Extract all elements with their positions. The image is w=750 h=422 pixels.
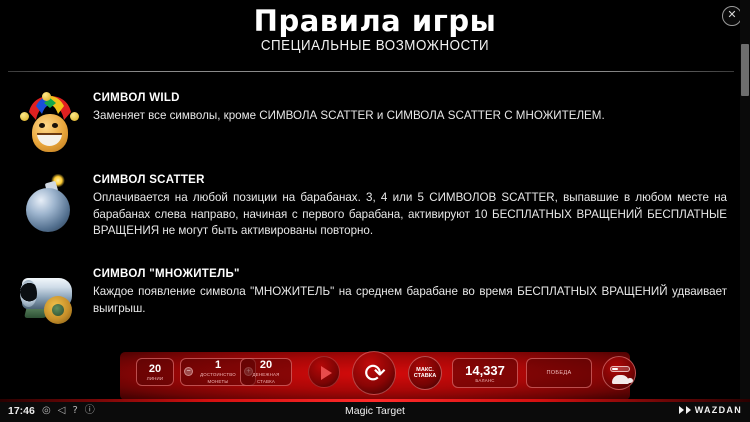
- balance-label: БАЛАНС: [475, 378, 494, 383]
- rules-list: СИМВОЛ WILD Заменяет все символы, кроме …: [0, 86, 750, 344]
- page-subtitle: СПЕЦИАЛЬНЫЕ ВОЗМОЖНОСТИ: [30, 38, 720, 54]
- turtle-head-icon: [627, 378, 633, 383]
- speed-slider-icon: [610, 366, 630, 372]
- brand-logo: WAZDAN: [679, 405, 742, 415]
- game-title: Magic Target: [0, 405, 750, 417]
- coin-label-line1: ДОСТОИНСТВО: [200, 372, 236, 377]
- header: Правила игры СПЕЦИАЛЬНЫЕ ВОЗМОЖНОСТИ ✕: [0, 0, 750, 74]
- play-button[interactable]: [308, 356, 340, 388]
- lines-value: 20: [149, 364, 161, 375]
- joker-jester-wild-icon: [18, 92, 86, 156]
- jester-eye-left: [39, 123, 45, 128]
- spin-refresh-icon: ⟳: [353, 352, 397, 396]
- balance-display: 14,337 БАЛАНС: [452, 358, 518, 388]
- bomb-body-shape: [26, 188, 70, 232]
- jester-bell-right: [70, 112, 79, 121]
- scrollbar-track[interactable]: [740, 0, 750, 400]
- rule-text-multiplier: СИМВОЛ "МНОЖИТЕЛЬ" Каждое появление симв…: [93, 268, 727, 317]
- rule-title: СИМВОЛ WILD: [93, 92, 727, 104]
- scrollbar-thumb[interactable]: [741, 44, 749, 96]
- rule-title: СИМВОЛ "МНОЖИТЕЛЬ": [93, 268, 727, 280]
- spin-button[interactable]: ⟳: [352, 351, 396, 395]
- game-rules-screen: Правила игры СПЕЦИАЛЬНЫЕ ВОЗМОЖНОСТИ ✕: [0, 0, 750, 422]
- max-bet-label-line2: СТАВКА: [414, 373, 437, 379]
- max-bet-button[interactable]: МАКС. СТАВКА: [408, 356, 442, 390]
- jester-mouth: [37, 133, 62, 146]
- lines-display[interactable]: 20 ЛИНИИ: [136, 358, 174, 386]
- game-control-bar: 20 ЛИНИИ 1 ДОСТОИНСТВО МОНЕТЫ − + 20 ДЕН…: [120, 352, 630, 400]
- balance-value: 14,337: [465, 364, 505, 377]
- header-divider: [8, 71, 734, 72]
- page-title: Правила игры: [0, 4, 750, 38]
- close-icon[interactable]: ✕: [722, 6, 742, 26]
- jester-face-shape: [32, 114, 68, 152]
- coin-label-line2: МОНЕТЫ: [208, 379, 229, 384]
- rule-body: Заменяет все символы, кроме СИМВОЛА SCAT…: [93, 108, 727, 125]
- brand-name: WAZDAN: [695, 405, 742, 415]
- cannon-muzzle: [20, 280, 37, 307]
- rule-body: Каждое появление символа "МНОЖИТЕЛЬ" на …: [93, 284, 727, 317]
- jester-bell-top: [42, 92, 51, 101]
- rule-text-scatter: СИМВОЛ SCATTER Оплачивается на любой поз…: [93, 174, 727, 240]
- money-bet-display[interactable]: 20 ДЕНЕЖНАЯ СТАВКА: [240, 358, 292, 386]
- jester-bell-left: [20, 112, 29, 121]
- win-label: ПОБЕДА: [546, 370, 571, 376]
- rule-body: Оплачивается на любой позиции на барабан…: [93, 190, 727, 240]
- cannon-multiplier-icon: [18, 268, 86, 332]
- coin-value: 1: [215, 360, 221, 371]
- turtle-speed-button[interactable]: [602, 356, 636, 390]
- jester-eye-right: [52, 123, 58, 128]
- play-icon: [321, 366, 332, 380]
- wazdan-mark-icon: [679, 406, 691, 414]
- cannon-wheel: [44, 296, 72, 324]
- bet-label-line2: СТАВКА: [257, 379, 275, 384]
- win-display: ПОБЕДА: [526, 358, 592, 388]
- bet-label-line1: ДЕНЕЖНАЯ: [253, 372, 280, 377]
- bet-value: 20: [260, 360, 272, 371]
- coin-decrease-button[interactable]: −: [184, 367, 193, 376]
- taskbar-accent-line: [0, 399, 750, 402]
- cannon-wheel-hub: [52, 304, 64, 316]
- rule-title: СИМВОЛ SCATTER: [93, 174, 727, 186]
- taskbar: 17:46 ◎ ◁ ? ⓘ Magic Target WAZDAN: [0, 400, 750, 422]
- lines-label: ЛИНИИ: [147, 376, 164, 381]
- bomb-scatter-icon: [18, 174, 86, 238]
- rule-text-wild: СИМВОЛ WILD Заменяет все символы, кроме …: [93, 92, 727, 125]
